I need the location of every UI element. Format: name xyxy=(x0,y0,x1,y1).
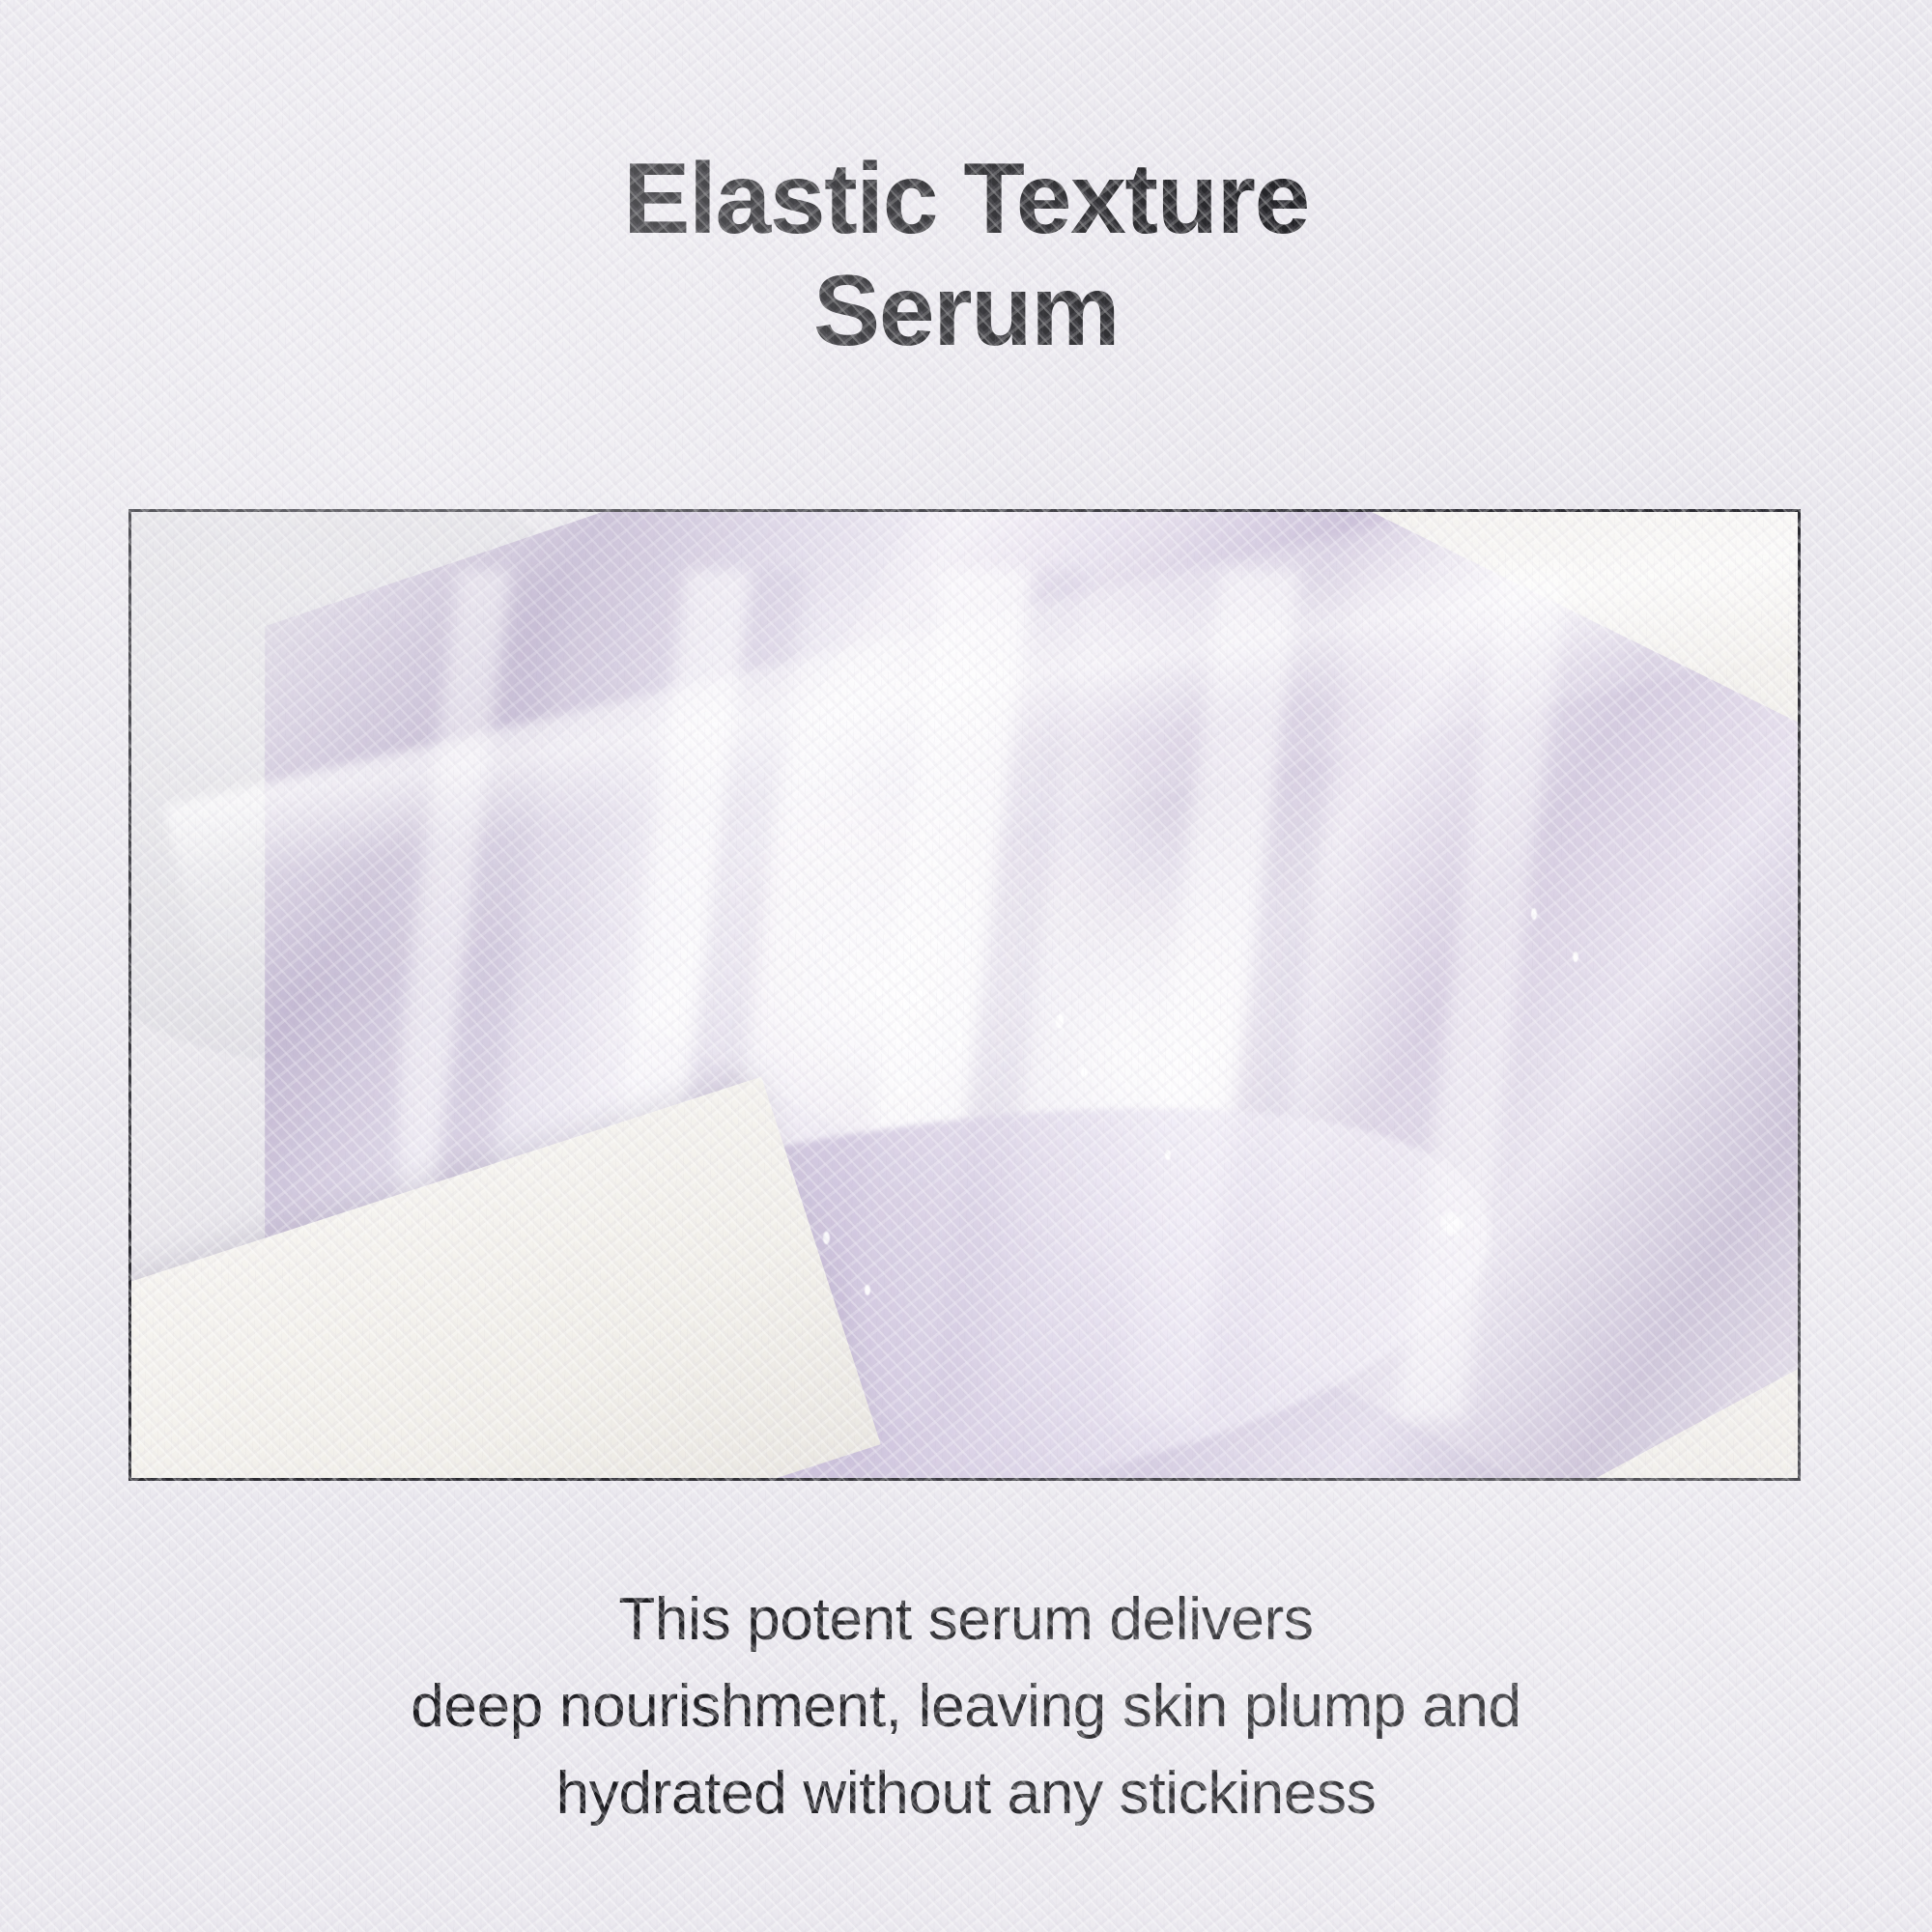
specular-highlight xyxy=(1439,1211,1464,1236)
product-description-line-1: This potent serum delivers xyxy=(0,1577,1932,1663)
serum-texture-photo: 5-PEPTIDE CO SLOWS AG 5-P SLO 50 m xyxy=(131,512,1798,1478)
air-bubble xyxy=(865,1285,870,1295)
product-photo-frame: 5-PEPTIDE CO SLOWS AG 5-P SLO 50 m xyxy=(128,509,1801,1481)
air-bubble xyxy=(956,1034,963,1046)
product-feature-page: Elastic Texture Serum xyxy=(0,0,1932,1932)
air-bubble xyxy=(915,990,923,1006)
page-title-line-2: Serum xyxy=(0,255,1932,367)
product-description-line-3: hydrated without any stickiness xyxy=(0,1750,1932,1837)
air-bubble xyxy=(823,1232,830,1244)
air-bubble xyxy=(1531,908,1537,920)
page-title-line-1: Elastic Texture xyxy=(0,143,1932,255)
product-description: This potent serum delivers deep nourishm… xyxy=(0,1577,1932,1837)
air-bubble xyxy=(1165,1150,1171,1160)
air-bubble xyxy=(898,1082,904,1094)
page-title: Elastic Texture Serum xyxy=(0,143,1932,368)
product-description-line-2: deep nourishment, leaving skin plump and xyxy=(0,1663,1932,1750)
